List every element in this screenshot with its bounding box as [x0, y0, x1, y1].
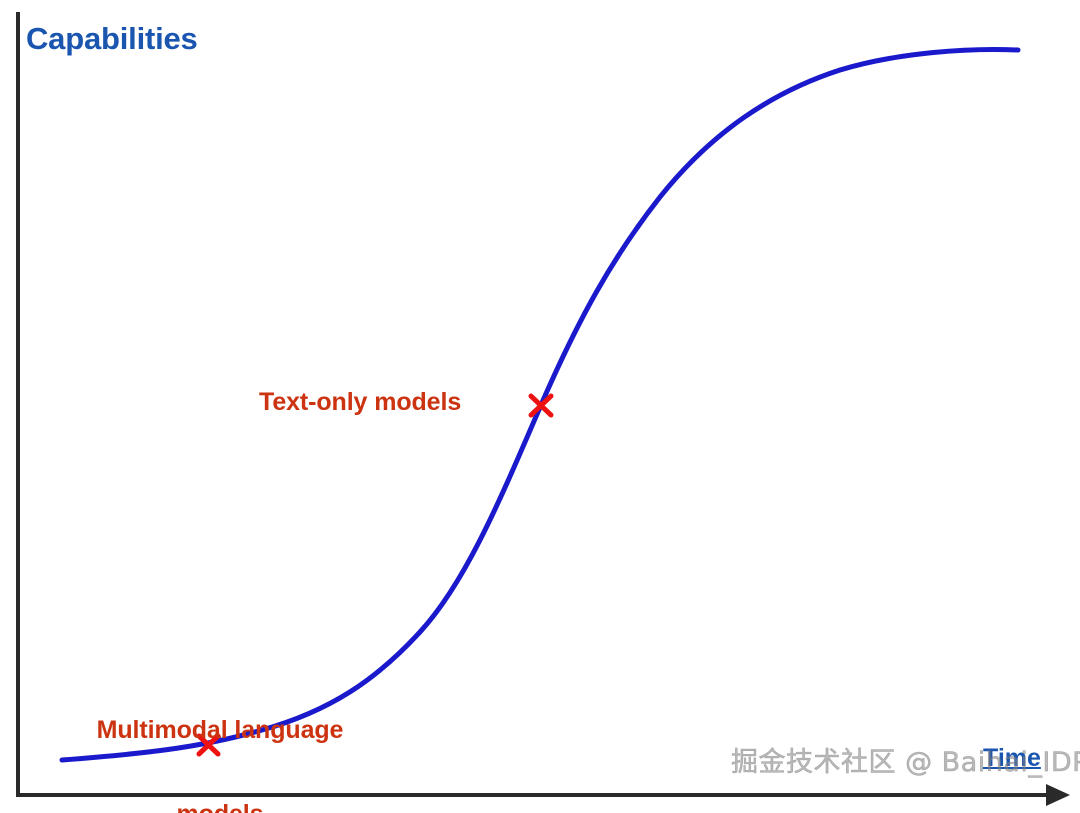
x-axis-arrowhead — [1046, 784, 1070, 806]
annotation-multimodal-line2: models — [59, 800, 381, 813]
chart-canvas: Capabilities Text-only models Multimodal… — [0, 0, 1080, 813]
annotation-multimodal-models: Multimodal language models — [59, 660, 381, 813]
watermark-text: 掘金技术社区 @ Baihai_IDP — [731, 748, 1080, 778]
annotation-text-only-models: Text-only models — [259, 388, 461, 416]
annotation-multimodal-line1: Multimodal language — [59, 716, 381, 744]
page-title: Capabilities — [26, 22, 198, 57]
